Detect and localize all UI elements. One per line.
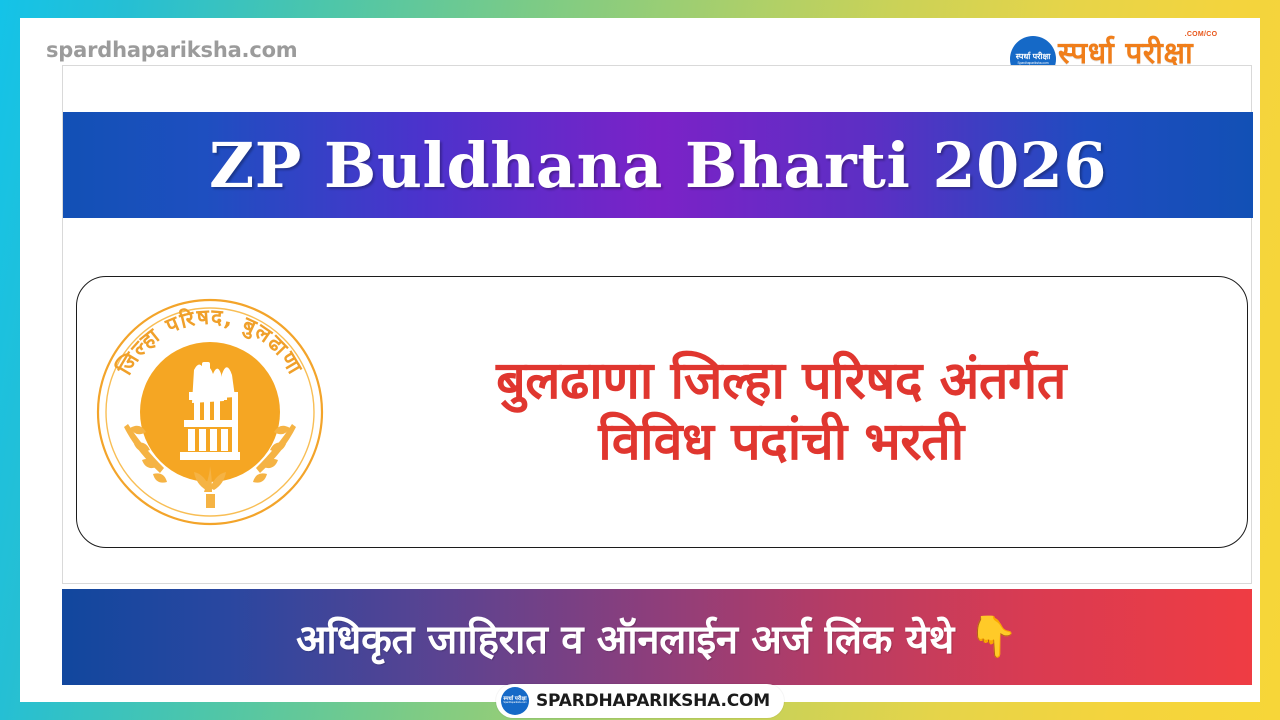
- cta-label: अधिकृत जाहिरात व ऑनलाईन अर्ज लिंक येथे: [296, 610, 954, 665]
- headline-line-1: बुलढाणा जिल्हा परिषद अंतर्गत: [496, 351, 1066, 411]
- title-banner: ZP Buldhana Bharti 2026: [63, 112, 1253, 218]
- footer-brand-pill[interactable]: स्पर्धा परीक्षा Spardhapariksha.com SPAR…: [496, 684, 784, 718]
- footer-brand-label: SPARDHAPARIKSHA.COM: [536, 691, 770, 711]
- white-card: spardhapariksha.com स्पर्धा परीक्षा Spar…: [20, 18, 1260, 702]
- zilla-parishad-buldhana-seal-icon: जिल्हा परिषद, बुलढाणा: [90, 292, 330, 532]
- brand-main-text: स्पर्धा परीक्षा: [1058, 39, 1217, 69]
- footer-brand-circle-icon: स्पर्धा परीक्षा Spardhapariksha.com: [501, 687, 529, 715]
- brand-superscript: .COM/CO: [1185, 31, 1218, 38]
- headline-block: बुलढाणा जिल्हा परिषद अंतर्गत विविध पदांच…: [335, 351, 1247, 474]
- headline-line-2: विविध पदांची भरती: [335, 412, 1227, 473]
- emblem-container: जिल्हा परिषद, बुलढाणा: [85, 287, 335, 537]
- poster-root: spardhapariksha.com स्पर्धा परीक्षा Spar…: [0, 0, 1280, 720]
- content-rounded-box: जिल्हा परिषद, बुलढाणा: [76, 276, 1248, 548]
- pointing-down-hand-icon: 👇: [968, 617, 1018, 657]
- page-title: ZP Buldhana Bharti 2026: [209, 129, 1107, 202]
- footer-circle-sub: Spardhapariksha.com: [503, 702, 526, 705]
- cta-banner[interactable]: अधिकृत जाहिरात व ऑनलाईन अर्ज लिंक येथे 👇: [62, 589, 1252, 685]
- site-name-label: spardhapariksha.com: [46, 38, 298, 62]
- brand-circle-main: स्पर्धा परीक्षा: [1016, 53, 1051, 61]
